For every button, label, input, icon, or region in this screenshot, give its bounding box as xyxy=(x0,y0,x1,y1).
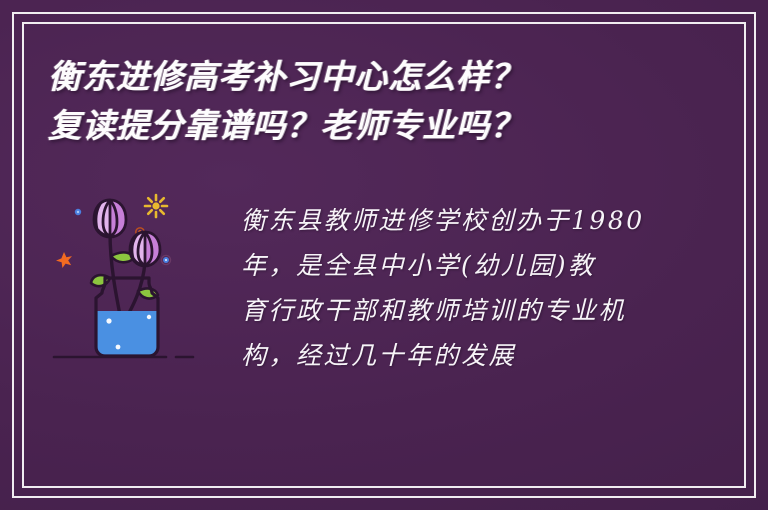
water-bubble-2 xyxy=(147,315,151,319)
headline-line-2: 复读提分靠谱吗？老师专业吗？ xyxy=(48,101,708,150)
sparkle-blue-dot-upper-left-icon xyxy=(75,209,81,215)
body-line-1: 衡东县教师进修学校创办于1980 xyxy=(241,198,720,243)
body-line-4: 构，经过几十年的发展 xyxy=(241,333,720,378)
body-line-3: 育行政干部和教师培训的专业机 xyxy=(241,288,720,333)
sparkle-gold-burst-top-icon xyxy=(145,195,167,217)
body-line-2: 年，是全县中小学(幼儿园)教 xyxy=(241,243,720,288)
headline-line-1: 衡东进修高考补习中心怎么样？ xyxy=(48,52,708,101)
content-row: 衡东县教师进修学校创办于1980 年，是全县中小学(幼儿园)教 育行政干部和教师… xyxy=(48,190,720,400)
water-bubble-1 xyxy=(106,318,111,323)
tulip-small-icon xyxy=(130,232,160,266)
headline-block: 衡东进修高考补习中心怎么样？ 复读提分靠谱吗？老师专业吗？ xyxy=(48,52,708,150)
tulip-large-icon xyxy=(94,200,126,237)
water-bubble-3 xyxy=(116,345,121,350)
flowers-in-jar-illustration xyxy=(48,190,223,380)
poster-canvas: 衡东进修高考补习中心怎么样？ 复读提分靠谱吗？老师专业吗？ xyxy=(0,0,768,510)
sparkle-orange-star-left-icon xyxy=(56,252,72,268)
sparkle-blue-dot-right-icon xyxy=(161,255,170,264)
body-text-block: 衡东县教师进修学校创办于1980 年，是全县中小学(幼儿园)教 育行政干部和教师… xyxy=(241,190,720,378)
